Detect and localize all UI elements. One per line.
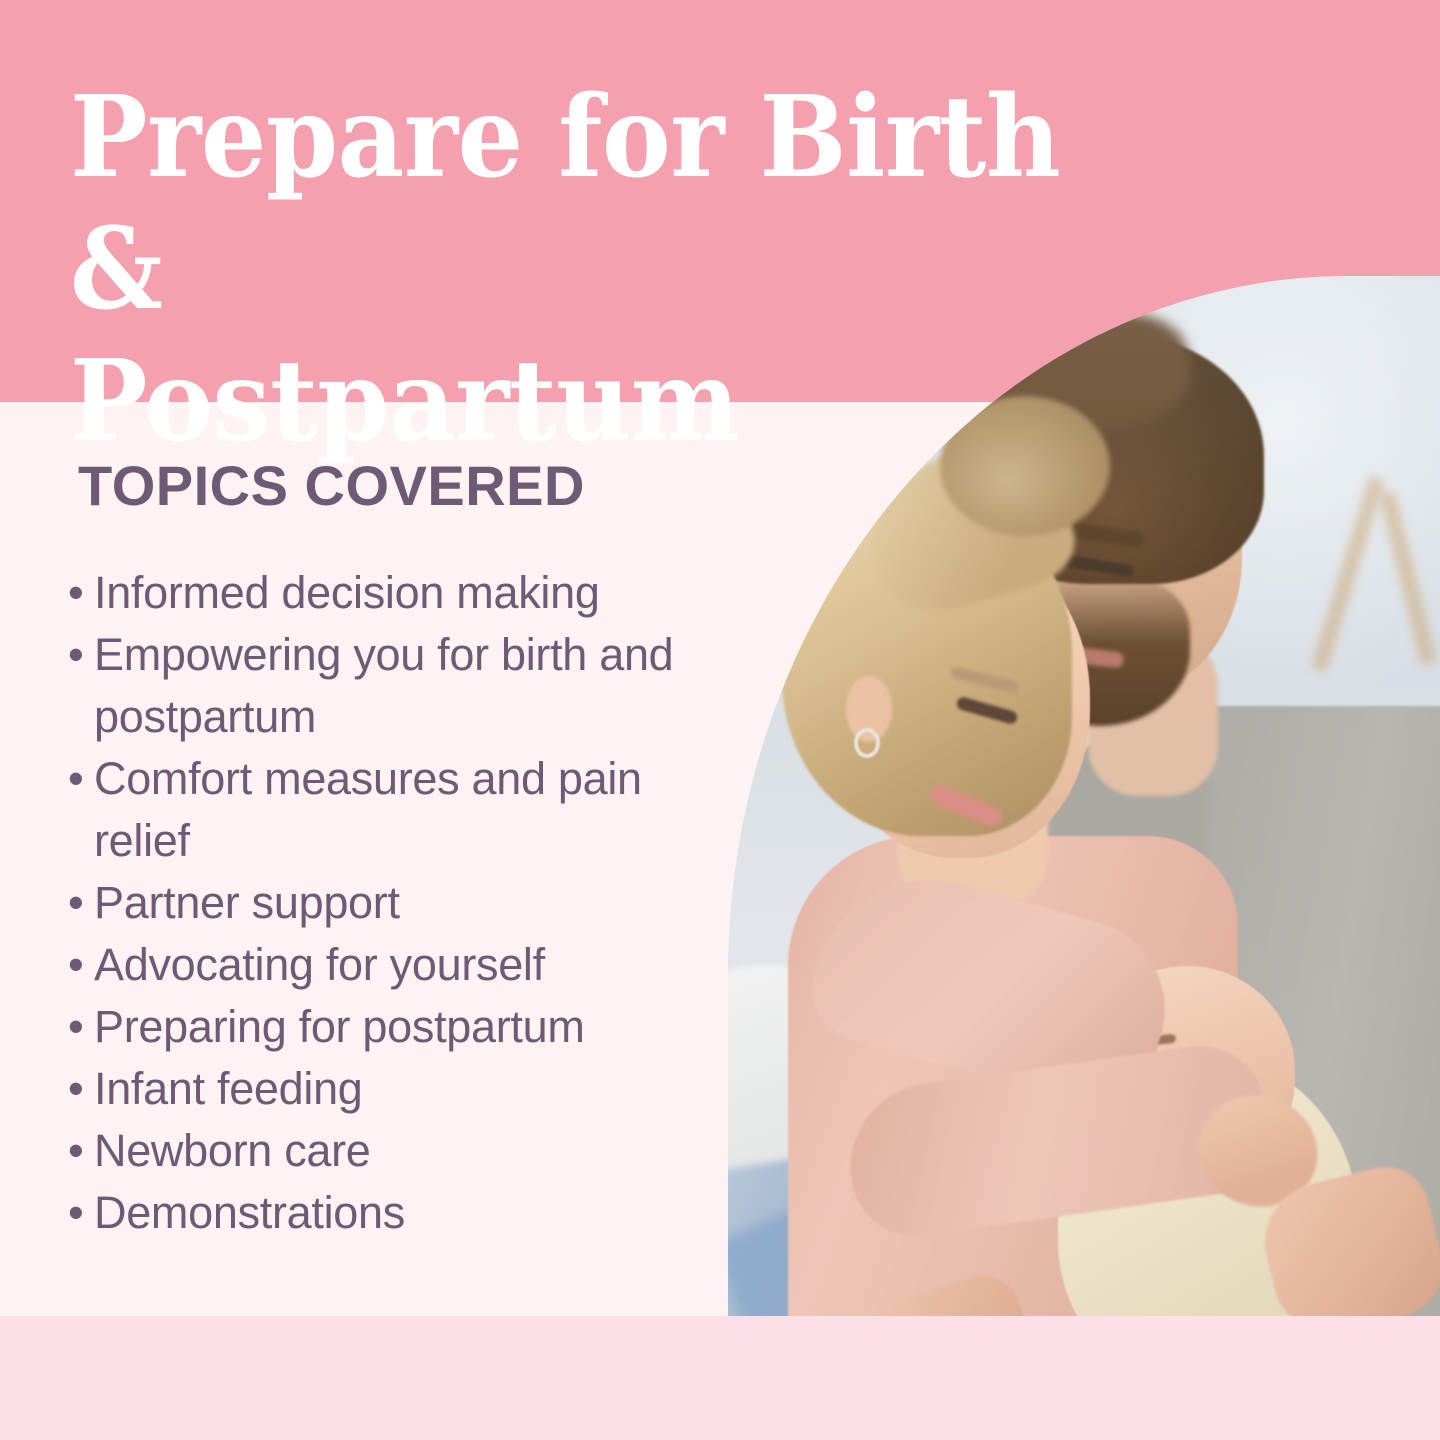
- list-item: • Newborn care: [68, 1120, 718, 1182]
- footer-band: [0, 1316, 1440, 1440]
- list-item: • Partner support: [68, 872, 718, 934]
- bullet-glyph: •: [68, 1120, 83, 1182]
- list-item-label: Newborn care: [94, 1120, 718, 1182]
- topics-list: • Informed decision making • Empowering …: [68, 562, 718, 1244]
- bullet-glyph: •: [68, 934, 83, 996]
- bullet-glyph: •: [68, 748, 83, 810]
- list-item: • Advocating for yourself: [68, 934, 718, 996]
- bullet-glyph: •: [68, 872, 83, 934]
- family-photo: [728, 276, 1440, 1316]
- bullet-glyph: •: [68, 624, 83, 686]
- list-item: • Informed decision making: [68, 562, 718, 624]
- list-item: • Preparing for postpartum: [68, 996, 718, 1058]
- list-item-label: Demonstrations: [94, 1182, 718, 1244]
- bullet-glyph: •: [68, 996, 83, 1058]
- list-item: • Empowering you for birth and postpartu…: [68, 624, 718, 748]
- list-item-label: Partner support: [94, 872, 718, 934]
- list-item-label: Preparing for postpartum: [94, 996, 718, 1058]
- photo-background: [728, 276, 1440, 1316]
- wooden-frame-left: [1311, 476, 1385, 672]
- list-item: • Infant feeding: [68, 1058, 718, 1120]
- bullet-glyph: •: [68, 1058, 83, 1120]
- list-item: • Comfort measures and pain relief: [68, 748, 718, 872]
- list-item-label: Advocating for yourself: [94, 934, 718, 996]
- wooden-frame-right: [1379, 491, 1437, 666]
- list-item-label: Informed decision making: [94, 562, 718, 624]
- list-item-label: Infant feeding: [94, 1058, 718, 1120]
- list-item-label: Empowering you for birth and postpartum: [94, 624, 718, 748]
- bullet-glyph: •: [68, 1182, 83, 1244]
- topics-covered-heading: TOPICS COVERED: [78, 458, 585, 514]
- mother-hair-bun: [940, 396, 1110, 536]
- list-item: • Demonstrations: [68, 1182, 718, 1244]
- poster-canvas: Prepare for Birth & Postpartum TOPICS CO…: [0, 0, 1440, 1440]
- mother-earring: [854, 728, 880, 758]
- bullet-glyph: •: [68, 562, 83, 624]
- list-item-label: Comfort measures and pain relief: [94, 748, 718, 872]
